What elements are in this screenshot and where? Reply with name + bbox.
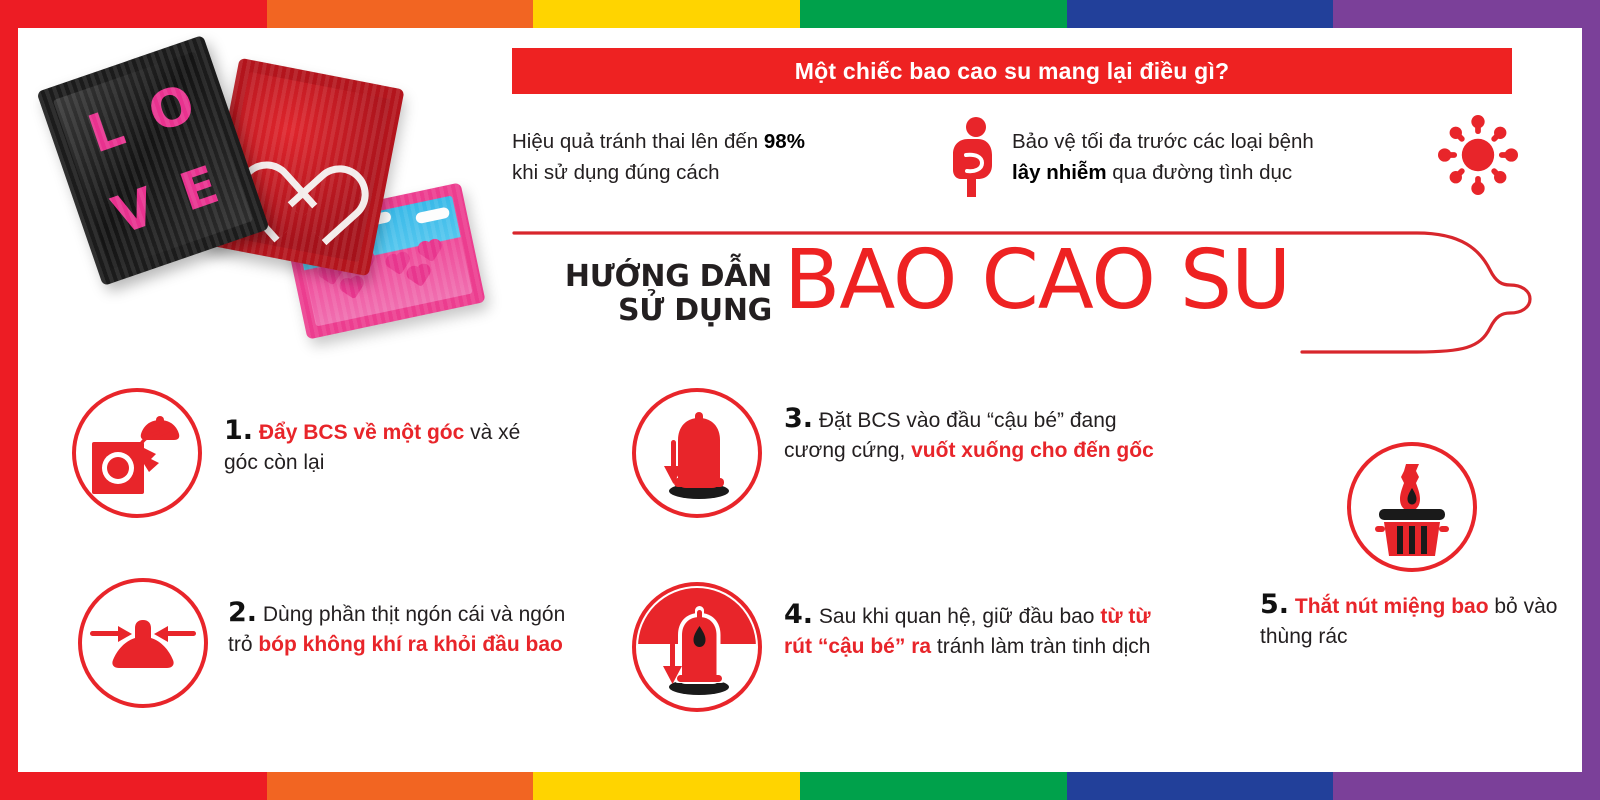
step-1-text: 1. Đẩy BCS về một góc và xé góc còn lại [224,412,554,478]
headline-text: Một chiếc bao cao su mang lại điều gì? [795,58,1229,85]
title-line-2: SỬ DỤNG [520,294,772,328]
step-5-highlight: Thắt nút miệng bao [1295,595,1489,618]
benefit-line2-suffix: qua đường tình dục [1107,161,1293,184]
benefit-sti-protection: Bảo vệ tối đa trước các loại bệnh lây nh… [1012,112,1522,202]
title-subheading: HƯỚNG DẪN SỬ DỤNG [520,260,772,328]
headline-banner: Một chiếc bao cao su mang lại điều gì? [512,48,1512,94]
poster-content: L O V E Một chiếc bao cao su mang lại đi… [0,0,1600,800]
step-1-number: 1. [224,415,253,446]
step-3: 3. Đặt BCS vào đầu “cậu bé” đang cương c… [632,388,1192,518]
step-4-text: 4. Sau khi quan hệ, giữ đầu bao từ từ rú… [784,596,1184,662]
benefit-sti-text: Bảo vệ tối đa trước các loại bệnh lây nh… [1012,126,1424,188]
virus-icon [1438,115,1512,199]
pinch-tip-icon [78,578,208,708]
step-5-text: 5. Thắt nút miệng bao bỏ vào thùng rác [1252,586,1572,652]
step-4-lead: Sau khi quan hệ, giữ đầu bao [813,605,1100,628]
step-4-number: 4. [784,599,813,630]
step-2-highlight: bóp không khí ra khỏi đầu bao [258,633,563,656]
step-2-text: 2. Dùng phần thịt ngón cái và ngón trỏ b… [228,594,588,660]
step-2-number: 2. [228,597,257,628]
step-1: 1. Đẩy BCS về một góc và xé góc còn lại [72,388,592,518]
pregnant-woman-icon [938,115,1012,199]
benefit-contraception: Hiệu quả tránh thai lên đến 98% khi sử d… [512,112,1012,202]
benefit-line1: Bảo vệ tối đa trước các loại bệnh [1012,130,1314,153]
trash-can-icon [1347,442,1477,572]
title-line-1: HƯỚNG DẪN [520,260,772,294]
condom-packets-photo: L O V E [55,50,475,350]
main-title-block: HƯỚNG DẪN SỬ DỤNG BAO CAO SU [512,228,1542,358]
benefit-line1-prefix: Hiệu quả tránh thai lên đến [512,130,764,153]
step-4-tail: tránh làm tràn tinh dịch [931,635,1150,658]
step-3-text: 3. Đặt BCS vào đầu “cậu bé” đang cương c… [784,400,1174,466]
withdraw-icon [632,582,762,712]
open-packet-icon [72,388,202,518]
page-title: BAO CAO SU [784,240,1290,322]
benefit-percent: 98% [764,130,805,153]
roll-down-icon [632,388,762,518]
benefit-line2: khi sử dụng đúng cách [512,161,719,184]
infographic-poster: L O V E Một chiếc bao cao su mang lại đi… [0,0,1600,800]
step-5: 5. Thắt nút miệng bao bỏ vào thùng rác [1252,442,1572,652]
step-2: 2. Dùng phần thịt ngón cái và ngón trỏ b… [78,578,618,708]
step-3-highlight: vuốt xuống cho đến gốc [911,439,1154,462]
step-1-highlight: Đẩy BCS về một góc [259,421,464,444]
step-4: 4. Sau khi quan hệ, giữ đầu bao từ từ rú… [632,582,1212,712]
step-5-number: 5. [1260,589,1289,620]
step-3-number: 3. [784,403,813,434]
benefit-bold-term: lây nhiễm [1012,161,1107,184]
benefits-row: Hiệu quả tránh thai lên đến 98% khi sử d… [512,112,1522,202]
benefit-contraception-text: Hiệu quả tránh thai lên đến 98% khi sử d… [512,126,924,188]
